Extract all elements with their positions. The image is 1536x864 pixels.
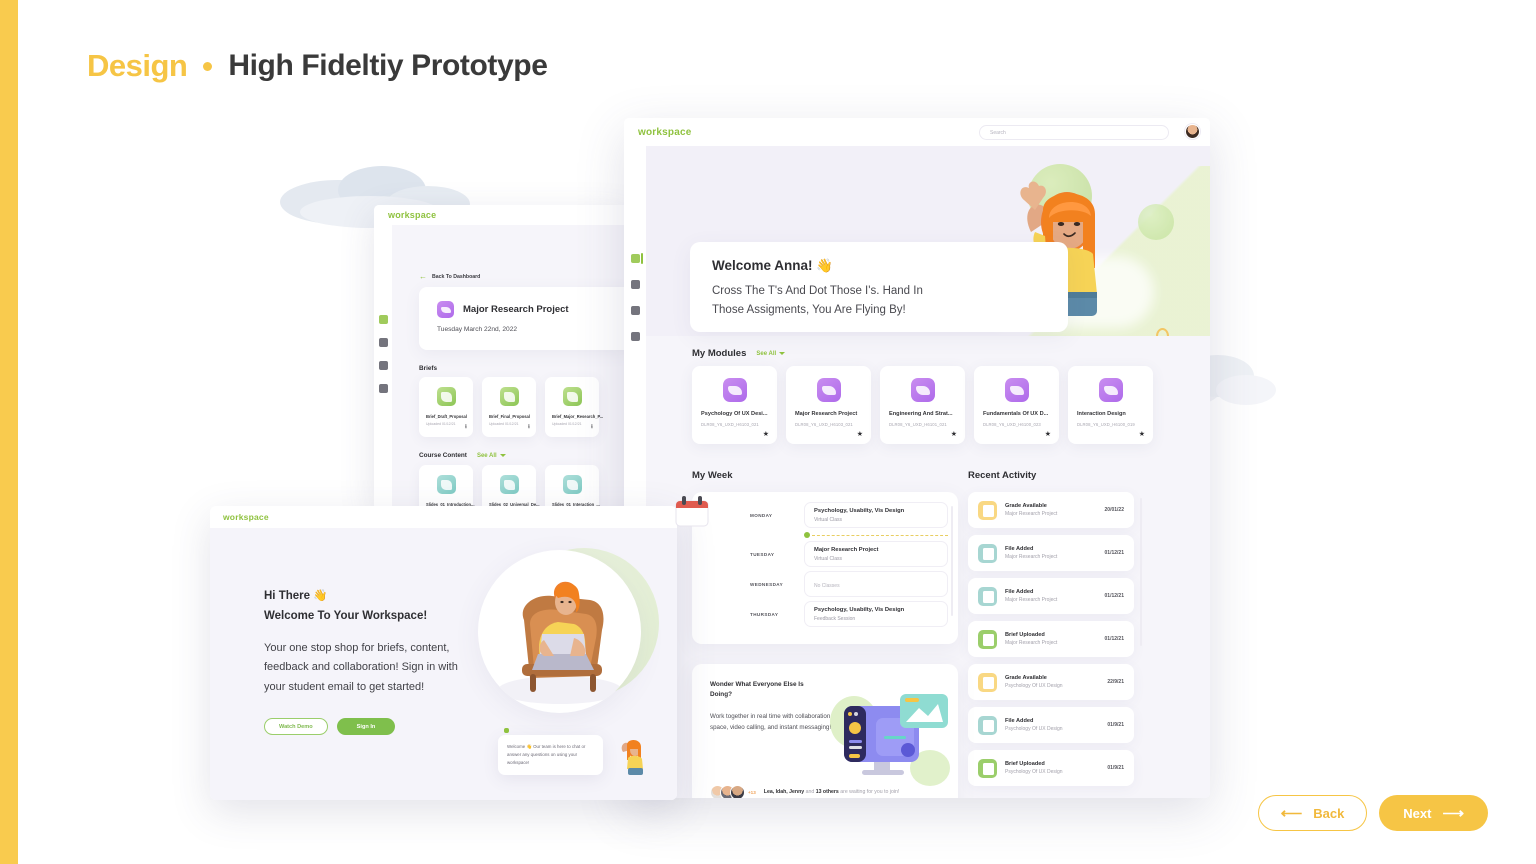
my-week-label: My Week (692, 470, 732, 481)
brand-logo: workspace (638, 127, 692, 138)
activity-row[interactable]: Brief Uploaded Major Research Project 01… (968, 621, 1134, 657)
activity-row[interactable]: File Added Major Research Project 01/12/… (968, 578, 1134, 614)
watch-demo-button[interactable]: Watch Demo (264, 718, 328, 735)
activity-title: Brief Uploaded (1005, 632, 1097, 638)
back-label: Back (1313, 806, 1344, 821)
week-rows: MONDAY Psychology, Usabilty, Vis Design … (750, 502, 948, 631)
content-card[interactable]: Slides_02_Universal_De... Uploaded 16/12… (482, 465, 536, 510)
project-window-body: ← Back To Dashboard Major Research Proje… (374, 225, 632, 510)
welcome-hi: Hi There 👋 (264, 588, 474, 602)
module-card[interactable]: Major Research Project DLR08_Y6_UXD_H610… (786, 366, 871, 444)
next-label: Next (1403, 806, 1431, 821)
participants-tail: are waiting for you to join! (839, 789, 900, 795)
brand-logo: workspace (223, 512, 269, 522)
participants-text: Lea, Idah, Jenny and 13 others are waiti… (764, 788, 900, 796)
chevron-down-icon (500, 454, 506, 457)
activity-row[interactable]: File Added Major Research Project 01/12/… (968, 535, 1134, 571)
download-icon[interactable]: ⭳ (528, 422, 530, 432)
module-code: DLR08_Y6_UXD_H6100_019 (1077, 422, 1144, 427)
activity-date: 01/9/21 (1107, 722, 1124, 728)
participants-mid: and (804, 789, 816, 795)
week-entry: Major Research Project Virtual Class (804, 541, 948, 567)
activity-subtitle: Psychology Of UX Design (1005, 683, 1099, 689)
activity-subtitle: Major Research Project (1005, 597, 1097, 603)
slide-canvas: Design High Fideltiy Prototype workspace (0, 0, 1536, 864)
module-icon (1099, 378, 1123, 402)
module-code: DLR08_Y6_UXD_H6100_023 (983, 422, 1050, 427)
slide-kicker: Design (87, 48, 187, 84)
back-to-dashboard-link[interactable]: ← Back To Dashboard (419, 273, 480, 281)
week-entry-sub: Feedback Session (814, 616, 938, 622)
module-name: Fundamentals Of UX D... (983, 411, 1050, 418)
now-dashed-line (812, 535, 948, 536)
module-code: DLR08_Y6_UXD_H6103_021 (701, 422, 768, 427)
project-title: Major Research Project (463, 304, 569, 315)
week-entry: Psychology, Usabilty, Vis Design Feedbac… (804, 601, 948, 627)
page-title: Design High Fideltiy Prototype (87, 48, 548, 84)
sidebar-item-people[interactable] (379, 361, 388, 370)
sidebar-item-briefs[interactable] (379, 338, 388, 347)
module-name: Interaction Design (1077, 411, 1144, 418)
favorite-star-icon[interactable]: ★ (1139, 430, 1145, 438)
file-icon (978, 587, 997, 606)
slide-title: High Fideltiy Prototype (228, 49, 547, 83)
brief-file-icon (563, 387, 582, 406)
brief-name: Brief_Major_Research_P... (552, 414, 592, 419)
dashboard-lower-area: My Week Recent Activity MONDAY Psycholog… (646, 468, 1210, 798)
recent-activity-header: Recent Activity (968, 470, 1036, 481)
course-content-see-all[interactable]: See All (477, 453, 506, 459)
project-sidebar[interactable] (374, 225, 392, 510)
module-name: Engineering And Strat... (889, 411, 956, 418)
chat-status-dot-icon (504, 728, 509, 733)
left-accent-rail (0, 0, 18, 864)
sidebar-item-calendar[interactable] (631, 332, 640, 341)
hero-green-blob-small (1138, 204, 1174, 240)
welcome-line-2: Those Assigments, You Are Flying By! (712, 301, 1046, 320)
welcome-banner: Welcome Anna! 👋 Cross The T's And Dot Th… (690, 242, 1068, 332)
my-modules-label: My Modules (692, 348, 746, 359)
week-day-label: WEDNESDAY (750, 582, 794, 587)
arrow-right-icon: ⟶ (1442, 806, 1464, 821)
see-all-label: See All (477, 453, 497, 459)
brief-uploaded: Uploaded 01/12/21 (552, 422, 592, 426)
chevron-down-icon (779, 352, 785, 355)
activity-date: 20/01/22 (1105, 507, 1124, 513)
favorite-star-icon[interactable]: ★ (857, 430, 863, 438)
week-entry-title: Psychology, Usabilty, Vis Design (814, 508, 938, 514)
sidebar-item-briefs[interactable] (631, 280, 640, 289)
brief-uploaded: Uploaded 01/12/21 (426, 422, 466, 426)
activity-title: File Added (1005, 546, 1097, 552)
illustration-circle (478, 550, 641, 713)
search-placeholder: Search (990, 130, 1006, 136)
week-row[interactable]: THURSDAY Psychology, Usabilty, Vis Desig… (750, 601, 948, 627)
recent-activity-list: Grade Available Major Research Project 2… (968, 492, 1134, 793)
welcome-window-topbar: workspace (210, 506, 677, 528)
brief-card[interactable]: Brief_Draft_Proposal Uploaded 01/12/21 ⭳ (419, 377, 473, 437)
file-icon (978, 544, 997, 563)
activity-subtitle: Psychology Of UX Design (1005, 769, 1099, 775)
brief-file-icon (500, 387, 519, 406)
calendar-illustration-icon (674, 494, 710, 528)
course-content-label: Course Content (419, 452, 467, 459)
briefs-heading: Briefs (419, 365, 437, 372)
activity-date: 01/12/21 (1105, 550, 1124, 556)
week-scrollbar[interactable] (951, 506, 953, 616)
activity-date: 01/9/21 (1107, 765, 1124, 771)
collab-title-line-1: Wonder What Everyone Else Is (710, 680, 820, 690)
back-to-dashboard-label: Back To Dashboard (432, 274, 480, 280)
welcome-window-body: Hi There 👋 Welcome To Your Workspace! Yo… (210, 528, 677, 800)
brief-file-icon (437, 387, 456, 406)
activity-date: 01/12/21 (1105, 636, 1124, 642)
activity-title: Grade Available (1005, 675, 1099, 681)
week-entry-sub: Virtual Class (814, 517, 938, 523)
course-content-list: Slides_01_Introduction... Uploaded 01/12… (419, 465, 599, 510)
slides-file-icon (563, 475, 582, 494)
chat-bubble[interactable]: Welcome 👋 Our team is here to chat or an… (498, 735, 603, 775)
module-code: DLR08_Y6_UXD_H6101_021 (889, 422, 956, 427)
collaboration-participants: +13 Lea, Idah, Jenny and 13 others are w… (710, 785, 899, 798)
welcome-window[interactable]: workspace (210, 506, 677, 800)
file-icon (978, 716, 997, 735)
activity-subtitle: Major Research Project (1005, 554, 1097, 560)
activity-subtitle: Major Research Project (1005, 511, 1097, 517)
avatar[interactable] (1185, 124, 1200, 139)
activity-row[interactable]: Grade Available Major Research Project 2… (968, 492, 1134, 528)
course-content-heading: Course Content See All (419, 452, 506, 459)
module-icon (817, 378, 841, 402)
module-card[interactable]: Fundamentals Of UX D... DLR08_Y6_UXD_H61… (974, 366, 1059, 444)
module-icon (723, 378, 747, 402)
brief-name: Brief_Final_Proposal (489, 414, 529, 419)
activity-title: Brief Uploaded (1005, 761, 1099, 767)
person-with-laptop-illustration (478, 550, 641, 713)
sidebar-item-dashboard[interactable] (631, 254, 640, 263)
welcome-body: Your one stop shop for briefs, content, … (264, 639, 474, 697)
slides-file-icon (437, 475, 456, 494)
brand-logo: workspace (388, 210, 436, 220)
week-row[interactable]: WEDNESDAY No Classes (750, 571, 948, 597)
collab-title-line-2: Doing? (710, 690, 820, 700)
week-entry-sub: Virtual Class (814, 556, 938, 562)
week-row[interactable]: TUESDAY Major Research Project Virtual C… (750, 541, 948, 567)
sidebar-item-people[interactable] (631, 306, 640, 315)
chat-avatar-illustration (615, 736, 647, 778)
week-day-label: THURSDAY (750, 612, 794, 617)
chat-message: Welcome 👋 Our team is here to chat or an… (507, 743, 594, 767)
week-day-label: TUESDAY (750, 552, 794, 557)
avatar (730, 785, 745, 798)
arrow-left-icon: ⟵ (1281, 806, 1303, 821)
collaboration-illustration (824, 686, 954, 786)
grade-icon (978, 673, 997, 692)
module-card-list: Psychology Of UX Desi... DLR08_Y6_UXD_H6… (692, 366, 1153, 444)
activity-subtitle: Major Research Project (1005, 640, 1097, 646)
search-input[interactable]: Search (979, 125, 1169, 140)
brief-icon (978, 759, 997, 778)
activity-date: 01/12/21 (1105, 593, 1124, 599)
sidebar-item-dashboard[interactable] (379, 315, 388, 324)
project-date: Tuesday March 22nd, 2022 (437, 326, 616, 333)
week-day-label: MONDAY (750, 513, 794, 518)
favorite-star-icon[interactable]: ★ (763, 430, 769, 438)
activity-subtitle: Psychology Of UX Design (1005, 726, 1099, 732)
welcome-greeting: Welcome Anna! 👋 (712, 258, 1046, 274)
project-window[interactable]: workspace ← Back To Dashboard Major Rese… (374, 205, 632, 510)
modules-see-all-button[interactable]: See All (756, 351, 785, 357)
slides-file-icon (500, 475, 519, 494)
current-time-indicator (804, 532, 948, 538)
sidebar-active-marker (641, 253, 643, 264)
recent-activity-label: Recent Activity (968, 470, 1036, 481)
collab-body: Work together in real time with collabor… (710, 711, 838, 733)
next-button[interactable]: Next ⟶ (1379, 795, 1488, 831)
module-icon (437, 301, 454, 318)
avatar-stack: +13 (710, 785, 756, 798)
activity-row[interactable]: File Added Psychology Of UX Design 01/9/… (968, 707, 1134, 743)
welcome-line-1: Cross The T's And Dot Those I's. Hand In (712, 282, 1046, 301)
activity-scrollbar[interactable] (1140, 498, 1142, 646)
avatar-overflow-count: +13 (748, 790, 756, 795)
brief-uploaded: Uploaded 01/12/21 (489, 422, 529, 426)
favorite-star-icon[interactable]: ★ (951, 430, 957, 438)
separator-dot-icon (203, 62, 212, 71)
dashboard-topbar: workspace Search (624, 118, 1210, 146)
activity-title: File Added (1005, 718, 1099, 724)
back-button[interactable]: ⟵ Back (1258, 795, 1368, 831)
grade-icon (978, 501, 997, 520)
welcome-actions: Watch Demo Sign In (264, 718, 395, 735)
welcome-copy: Hi There 👋 Welcome To Your Workspace! Yo… (264, 588, 474, 697)
my-week-card: MONDAY Psychology, Usabilty, Vis Design … (692, 492, 958, 644)
arrow-left-icon: ← (419, 273, 427, 281)
download-icon[interactable]: ⭳ (591, 422, 593, 432)
module-code: DLR08_Y6_UXD_H6103_021 (795, 422, 862, 427)
participant-names: Lea, Idah, Jenny (764, 789, 804, 795)
welcome-subtitle: Welcome To Your Workspace! (264, 610, 474, 622)
briefs-list: Brief_Draft_Proposal Uploaded 01/12/21 ⭳… (419, 377, 599, 437)
participants-others: 13 others (816, 789, 839, 795)
content-card[interactable]: Slides_01_Interaction_... Uploaded 07/12… (545, 465, 599, 510)
week-row[interactable]: MONDAY Psychology, Usabilty, Vis Design … (750, 502, 948, 528)
week-entry-title: Psychology, Usabilty, Vis Design (814, 607, 938, 613)
brief-card[interactable]: Brief_Final_Proposal Uploaded 01/12/21 ⭳ (482, 377, 536, 437)
download-icon[interactable]: ⭳ (465, 422, 467, 432)
project-header-card: Major Research Project Tuesday March 22n… (419, 287, 632, 350)
dashboard-body: Welcome Anna! 👋 Cross The T's And Dot Th… (624, 146, 1210, 798)
slide-navigation: ⟵ Back Next ⟶ (1258, 795, 1488, 831)
module-icon (1005, 378, 1029, 402)
sidebar-item-calendar[interactable] (379, 384, 388, 393)
my-week-header: My Week (692, 470, 732, 481)
collaboration-card: Wonder What Everyone Else Is Doing? Work… (692, 664, 958, 798)
activity-title: File Added (1005, 589, 1097, 595)
module-name: Psychology Of UX Desi... (701, 411, 768, 418)
now-dot-icon (804, 532, 810, 538)
brief-name: Brief_Draft_Proposal (426, 414, 466, 419)
week-entry-title: Major Research Project (814, 547, 938, 553)
module-card[interactable]: Interaction Design DLR08_Y6_UXD_H6100_01… (1068, 366, 1153, 444)
favorite-star-icon[interactable]: ★ (1045, 430, 1051, 438)
module-card[interactable]: Engineering And Strat... DLR08_Y6_UXD_H6… (880, 366, 965, 444)
week-entry: No Classes (804, 571, 948, 597)
my-modules-header: My Modules See All (692, 348, 785, 359)
content-card[interactable]: Slides_01_Introduction... Uploaded 01/12… (419, 465, 473, 510)
dashboard-window[interactable]: workspace Search (624, 118, 1210, 798)
activity-date: 22/9/21 (1107, 679, 1124, 685)
sign-in-button[interactable]: Sign In (337, 718, 396, 735)
module-name: Major Research Project (795, 411, 862, 418)
module-icon (911, 378, 935, 402)
brief-icon (978, 630, 997, 649)
activity-row[interactable]: Grade Available Psychology Of UX Design … (968, 664, 1134, 700)
activity-title: Grade Available (1005, 503, 1097, 509)
project-window-topbar: workspace (374, 205, 632, 225)
brief-card[interactable]: Brief_Major_Research_P... Uploaded 01/12… (545, 377, 599, 437)
week-entry: Psychology, Usabilty, Vis Design Virtual… (804, 502, 948, 528)
module-card[interactable]: Psychology Of UX Desi... DLR08_Y6_UXD_H6… (692, 366, 777, 444)
activity-row[interactable]: Brief Uploaded Psychology Of UX Design 0… (968, 750, 1134, 786)
see-all-label: See All (756, 351, 776, 357)
week-entry-sub: No Classes (814, 583, 840, 589)
